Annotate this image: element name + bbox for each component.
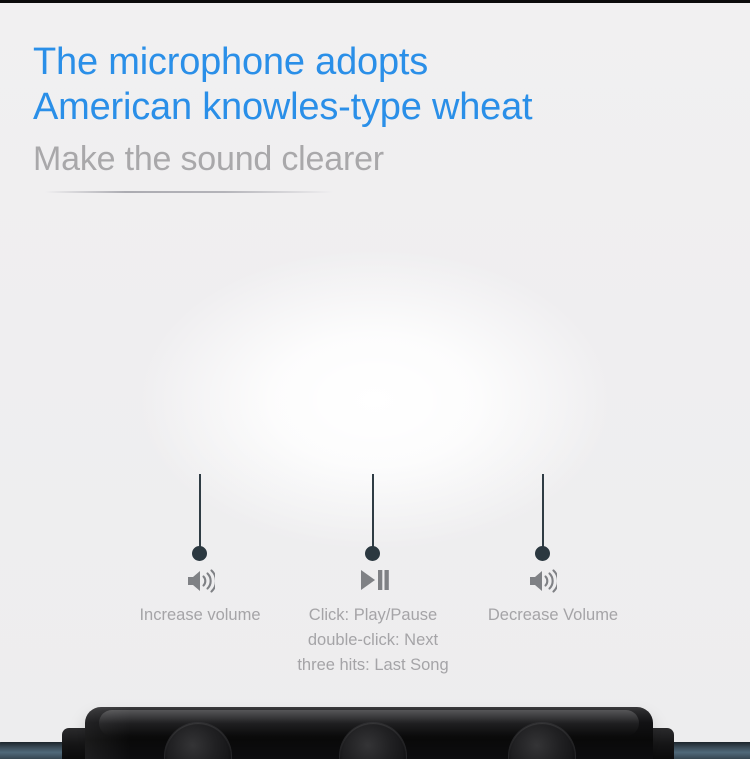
cable-right — [662, 742, 750, 759]
play-pause-icon — [343, 567, 403, 598]
volume-down-icon — [512, 567, 572, 600]
leader-dot-increase-volume — [192, 546, 207, 561]
leader-dot-play-pause — [365, 546, 380, 561]
leader-line-increase-volume — [199, 474, 201, 552]
callout-label-play-pause: Click: Play/Pause double-click: Next thr… — [272, 603, 474, 678]
volume-up-icon — [170, 567, 230, 600]
leader-line-play-pause — [372, 474, 374, 552]
headline-line-1: The microphone adopts — [33, 40, 693, 85]
volume-up-button[interactable] — [165, 723, 231, 759]
subtitle: Make the sound clearer — [33, 138, 693, 180]
remote-control-body — [85, 707, 653, 759]
top-edge-bar — [0, 0, 750, 3]
callout-label-decrease-volume: Decrease Volume — [463, 603, 643, 628]
heading-divider — [45, 191, 333, 193]
play-pause-button[interactable] — [340, 723, 406, 759]
leader-line-decrease-volume — [542, 474, 544, 552]
heading-block: The microphone adopts American knowles-t… — [33, 40, 693, 180]
volume-down-button[interactable] — [509, 723, 575, 759]
product-image-area — [0, 330, 750, 560]
callout-label-increase-volume: Increase volume — [110, 603, 290, 628]
product-feature-page: The microphone adopts American knowles-t… — [0, 0, 750, 759]
headline-line-2: American knowles-type wheat — [33, 85, 693, 130]
leader-dot-decrease-volume — [535, 546, 550, 561]
